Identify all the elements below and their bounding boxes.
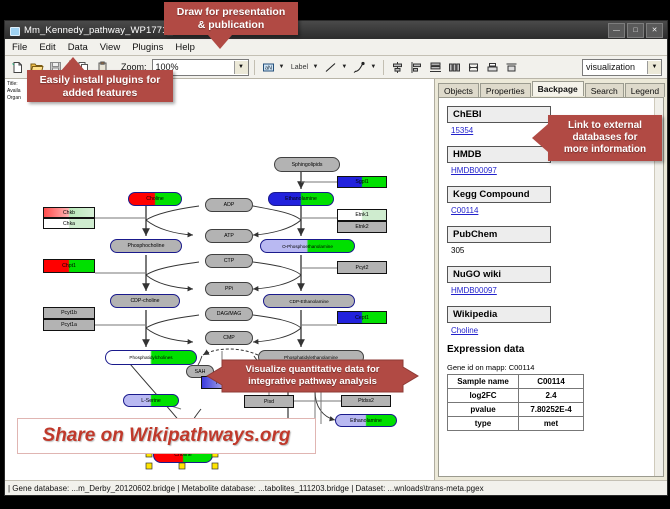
node-label: Chkb: [63, 210, 75, 216]
expr-key: Sample name: [448, 375, 519, 389]
node-label: Pisd: [264, 399, 274, 405]
node-label: Pcyt1a: [61, 322, 77, 328]
gene-node-sgpl1[interactable]: Sgpl1: [337, 176, 387, 188]
maximize-button[interactable]: □: [627, 23, 644, 38]
metabolite-node-cmp[interactable]: CMP: [205, 331, 253, 345]
tab-backpage[interactable]: Backpage: [532, 81, 584, 96]
node-label: Cept1: [355, 315, 369, 321]
callout-text: Easily install plugins for added feature…: [40, 74, 161, 99]
gene-node-chpt1[interactable]: Chpt1: [43, 259, 95, 273]
same-height-icon[interactable]: [484, 59, 501, 76]
metabolite-node-ppi[interactable]: PPi: [205, 282, 253, 296]
callout-external-links: Link to external databases for more info…: [548, 115, 662, 161]
node-label: ADP: [224, 202, 235, 208]
node-label: Pcyt1b: [61, 310, 77, 316]
callout-text: Link to external databases for more info…: [564, 120, 646, 155]
node-label: Sphingolipids: [292, 162, 323, 168]
chevron-down-icon[interactable]: ▼: [312, 64, 318, 70]
gene-node-cept1[interactable]: Cept1: [337, 311, 387, 324]
menu-item-edit[interactable]: Edit: [37, 42, 57, 53]
node-label: Chka: [63, 221, 75, 227]
metabolite-node-sphingolipids[interactable]: Sphingolipids: [274, 157, 340, 172]
gene-node-chkb[interactable]: Chkb: [43, 207, 95, 218]
node-label: CMP: [223, 335, 235, 341]
table-row: type met: [448, 417, 584, 431]
menu-item-plugins[interactable]: Plugins: [130, 42, 165, 53]
chevron-down-icon[interactable]: ▼: [370, 64, 376, 70]
screenshot-root: Mm_Kennedy_pathway_WP1771_45176.gpml — □…: [0, 0, 670, 509]
db-header-pubchem: PubChem: [447, 226, 551, 243]
stack-vertical-icon[interactable]: [427, 59, 444, 76]
node-label: CTP: [224, 258, 234, 264]
node-label: Etnk2: [355, 224, 368, 230]
metabolite-node-ctp[interactable]: CTP: [205, 254, 253, 268]
expression-data-heading: Expression data: [447, 344, 655, 355]
expr-key: type: [448, 417, 519, 431]
status-bar: | Gene database: ...m_Derby_20120602.bri…: [5, 480, 667, 495]
metabolite-node-phosphocholine[interactable]: Phosphocholine: [110, 239, 182, 253]
gene-node-etnk2[interactable]: Etnk2: [337, 221, 387, 233]
share-text: Share on Wikipathways.org: [43, 425, 291, 447]
node-label: Ethanolamine: [350, 418, 382, 424]
gene-node-pcyt2[interactable]: Pcyt2: [337, 261, 387, 274]
visualization-combobox[interactable]: visualization ▼: [582, 59, 662, 76]
distribute-horizontal-icon[interactable]: [446, 59, 463, 76]
minimize-button[interactable]: —: [608, 23, 625, 38]
callout-draw-presentation: Draw for presentation & publication: [164, 2, 298, 35]
node-label: SAH: [195, 369, 206, 375]
node-label: Choline: [146, 196, 164, 202]
expr-value: C00114: [519, 375, 584, 389]
tab-objects[interactable]: Objects: [438, 83, 479, 97]
expr-key: pvalue: [448, 403, 519, 417]
db-header-nugo: NuGO wiki: [447, 266, 551, 283]
interaction-icon[interactable]: [351, 59, 368, 76]
align-center-icon[interactable]: [389, 59, 406, 76]
window-controls: — □ ✕: [608, 23, 663, 38]
expression-table: Sample name C00114 log2FC 2.4 pvalue 7.8…: [447, 374, 584, 431]
gene-node-etnk1[interactable]: Etnk1: [337, 209, 387, 221]
node-label: Pcyt2: [356, 265, 369, 271]
metabolite-node-cdp-ethanolamine[interactable]: CDP-Ethanolamine: [263, 294, 355, 308]
same-width-icon[interactable]: [465, 59, 482, 76]
gene-node-ptdss2[interactable]: Ptdss2: [341, 395, 391, 407]
metabolite-node-adp[interactable]: ADP: [205, 198, 253, 212]
callout-arrow-up: [60, 57, 86, 72]
node-label: Sgpl1: [355, 179, 368, 185]
metabolite-node-ethanolamine-top[interactable]: Ethanolamine: [268, 192, 334, 206]
table-row: log2FC 2.4: [448, 389, 584, 403]
table-row: pvalue 7.80252E-4: [448, 403, 584, 417]
metabolite-node-l-serine-left[interactable]: L-Serine: [123, 394, 179, 407]
node-label: Phosphocholine: [128, 243, 165, 249]
new-file-icon[interactable]: [9, 59, 26, 76]
menu-item-help[interactable]: Help: [173, 42, 197, 53]
metabolite-node-ethanolamine-bottom[interactable]: Ethanolamine: [335, 414, 397, 427]
node-label: O-Phosphoethanolamine: [282, 244, 333, 249]
expr-value: 2.4: [519, 389, 584, 403]
db-header-wikipedia: Wikipedia: [447, 306, 551, 323]
gene-node-pisd[interactable]: Pisd: [244, 395, 294, 408]
bring-to-front-icon[interactable]: [503, 59, 520, 76]
node-label: CDP-choline: [130, 298, 159, 304]
db-value-pubchem: 305: [451, 246, 655, 255]
menu-item-view[interactable]: View: [98, 42, 122, 53]
table-row: Sample name C00114: [448, 375, 584, 389]
toolbar-separator: [383, 60, 384, 75]
label-tool-icon[interactable]: Label: [288, 59, 310, 76]
node-label: L-Serine: [141, 398, 161, 404]
node-label: Chpt1: [62, 263, 76, 269]
gene-node-pcyt1a[interactable]: Pcyt1a: [43, 319, 95, 331]
expr-key: log2FC: [448, 389, 519, 403]
node-label: CDP-Ethanolamine: [289, 299, 328, 304]
metabolite-node-phosphatidylcholines[interactable]: Phosphatidylcholines: [105, 350, 197, 365]
metabolite-node-choline-top[interactable]: Choline: [128, 192, 182, 206]
status-text: | Gene database: ...m_Derby_20120602.bri…: [8, 484, 484, 493]
chevron-down-icon[interactable]: ▼: [234, 61, 248, 74]
align-left-icon[interactable]: [408, 59, 425, 76]
menu-item-file[interactable]: File: [10, 42, 29, 53]
callout-arrow-down: [208, 35, 232, 49]
node-label: Phosphatidylcholines: [129, 355, 172, 360]
metabolite-node-o-phosphoethanolamine[interactable]: O-Phosphoethanolamine: [260, 239, 355, 253]
close-button[interactable]: ✕: [646, 23, 663, 38]
node-label: DAG/MAG: [217, 311, 242, 317]
node-label: Ethanolamine: [285, 196, 317, 202]
node-label: ATP: [224, 233, 234, 239]
gene-node-pcyt1b[interactable]: Pcyt1b: [43, 307, 95, 319]
callout-visualize-quant: Visualize quantitative data for integrat…: [205, 357, 420, 395]
visualization-value: visualization: [586, 62, 635, 72]
db-header-kegg: Kegg Compound: [447, 186, 551, 203]
gene-id-label: Gene id on mapp: C00114: [447, 363, 655, 372]
db-link-nugo[interactable]: HMDB00097: [451, 286, 655, 295]
menu-bar: File Edit Data View Plugins Help: [5, 39, 667, 56]
callout-text: Draw for presentation & publication: [177, 6, 286, 31]
chevron-down-icon[interactable]: ▼: [279, 64, 285, 70]
callout-share-wikipathways: Share on Wikipathways.org: [17, 418, 316, 454]
datanode-icon[interactable]: aN: [260, 59, 277, 76]
node-label: Etnk1: [355, 212, 368, 218]
db-header-chebi: ChEBI: [447, 106, 551, 123]
metabolite-node-dagmag[interactable]: DAG/MAG: [205, 307, 253, 321]
db-link-kegg[interactable]: C00114: [451, 206, 655, 215]
side-panel-tabs: Objects Properties Backpage Search Legen…: [435, 82, 667, 97]
expr-value: 7.80252E-4: [519, 403, 584, 417]
expr-value: met: [519, 417, 584, 431]
chevron-down-icon[interactable]: ▼: [647, 61, 661, 74]
db-link-wikipedia[interactable]: Choline: [451, 326, 655, 335]
metabolite-node-atp[interactable]: ATP: [205, 229, 253, 243]
toolbar-separator: [254, 60, 255, 75]
tab-legend[interactable]: Legend: [625, 83, 665, 97]
tab-properties[interactable]: Properties: [480, 83, 531, 97]
node-label: PPi: [225, 286, 233, 292]
svg-text:aN: aN: [265, 65, 272, 71]
title-bar: Mm_Kennedy_pathway_WP1771_45176.gpml — □…: [5, 21, 667, 39]
chevron-down-icon[interactable]: ▼: [341, 64, 347, 70]
menu-item-data[interactable]: Data: [66, 42, 90, 53]
node-label: Ptdss2: [358, 398, 374, 404]
pathvisio-icon: [9, 25, 20, 36]
callout-arrow-left: [532, 124, 548, 152]
metabolite-node-cdp-choline[interactable]: CDP-choline: [110, 294, 180, 308]
callout-text: Visualize quantitative data for integrat…: [246, 364, 380, 388]
callout-install-plugins: Easily install plugins for added feature…: [27, 70, 173, 102]
tab-search[interactable]: Search: [585, 83, 624, 97]
gene-node-chka[interactable]: Chka: [43, 218, 95, 229]
db-link-hmdb[interactable]: HMDB00097: [451, 166, 655, 175]
line-icon[interactable]: [322, 59, 339, 76]
